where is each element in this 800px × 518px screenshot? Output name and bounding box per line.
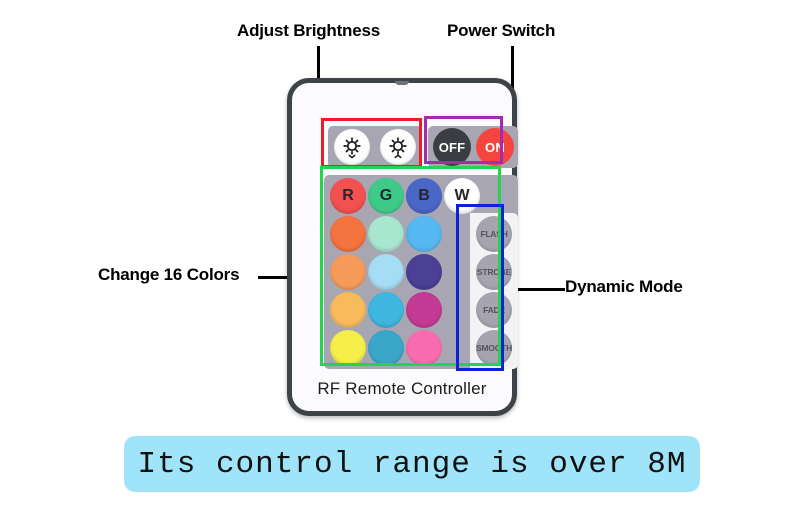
- highlight-box-brightness: [321, 118, 422, 168]
- range-banner-text: Its control range is over 8M: [138, 447, 687, 482]
- annotation-label-dynamic-mode: Dynamic Mode: [565, 277, 683, 297]
- annotation-label-adjust-brightness: Adjust Brightness: [237, 21, 380, 41]
- annotation-label-power-switch: Power Switch: [447, 21, 555, 41]
- highlight-box-dynamic-mode: [456, 204, 504, 371]
- range-banner: Its control range is over 8M: [124, 436, 700, 492]
- ir-emitter-notch: [395, 81, 409, 85]
- brand-text: RF Remote Controller: [292, 379, 512, 399]
- annotation-label-change-16-colors: Change 16 Colors: [98, 265, 239, 285]
- highlight-box-power: [424, 116, 503, 164]
